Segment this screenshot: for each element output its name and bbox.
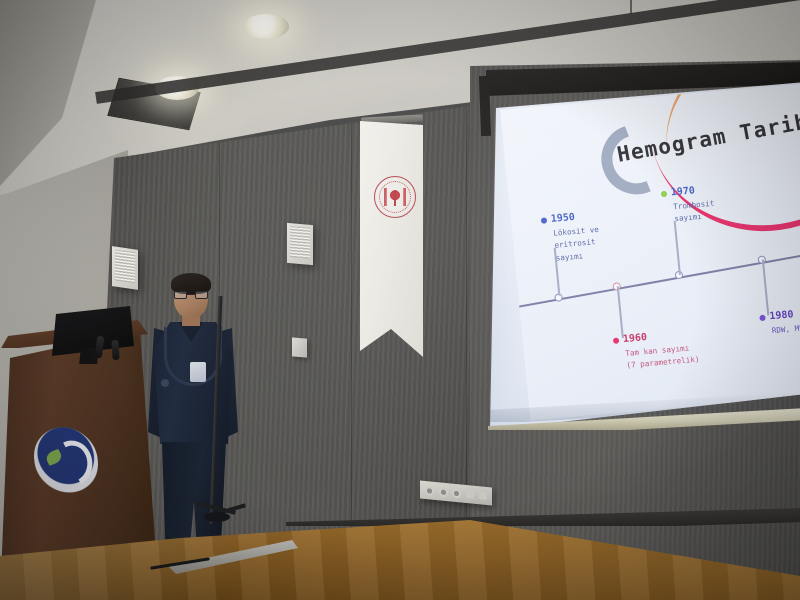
power-outlet-icon[interactable]	[439, 487, 448, 497]
timeline-entry-1950: 1950 Lökosit ve eritrosit sayımı	[540, 210, 601, 266]
timeline-description: RDW, MPV	[771, 322, 800, 337]
glasses-bridge	[187, 294, 195, 295]
timeline-entry-1980: 1980 RDW, MPV	[759, 308, 800, 338]
light-switch-icon[interactable]	[466, 490, 474, 498]
caduceus-icon	[384, 188, 406, 206]
timeline-dot-icon	[613, 337, 620, 343]
timeline-year-label: 1970	[670, 185, 695, 198]
light-switch-icon[interactable]	[479, 492, 487, 500]
speaker-grille	[115, 250, 135, 284]
screen-bracket	[479, 76, 491, 136]
timeline-dot-icon	[541, 217, 548, 223]
timeline-year-label: 1980	[769, 309, 794, 322]
presentation-slide: Hemogram Tarihç 1950	[500, 83, 800, 420]
stand-base	[204, 512, 230, 522]
glasses-lens	[174, 291, 187, 299]
speaker-grille	[290, 226, 310, 259]
projection-screen: Hemogram Tarihç 1950	[490, 82, 800, 432]
ministry-banner	[360, 121, 423, 357]
id-badge	[190, 362, 206, 382]
presenter	[148, 276, 244, 576]
ceiling-downlight	[243, 14, 289, 39]
timeline-entry-1960: 1960 Tam kan sayımı (7 parametrelik)	[612, 328, 700, 374]
timeline-year-label: 1960	[622, 332, 647, 345]
panel-seam	[351, 96, 352, 556]
wall-speaker-icon	[112, 246, 138, 290]
stethoscope-bell-icon	[160, 378, 170, 388]
conference-hall-photo: Hemogram Tarihç 1950	[0, 0, 800, 600]
timeline-entry-1970: 1970 Trombosit sayımı	[660, 184, 716, 227]
wall-speaker-icon	[287, 223, 313, 265]
wall-control-plate[interactable]	[292, 337, 307, 357]
timeline-dot-icon	[661, 190, 668, 196]
power-outlet-icon[interactable]	[425, 486, 434, 496]
power-outlet-icon[interactable]	[452, 488, 461, 498]
eyeglasses-icon	[174, 291, 208, 299]
timeline-description: Trombosit sayımı	[673, 198, 716, 226]
projection-screen-assembly: Hemogram Tarihç 1950	[486, 62, 800, 422]
timeline-description: Lökosit ve eritrosit sayımı	[553, 224, 602, 265]
glasses-lens	[195, 291, 208, 299]
timeline-year-label: 1950	[550, 212, 575, 225]
microphone-icon	[111, 340, 119, 360]
timeline-dot-icon	[759, 314, 766, 320]
